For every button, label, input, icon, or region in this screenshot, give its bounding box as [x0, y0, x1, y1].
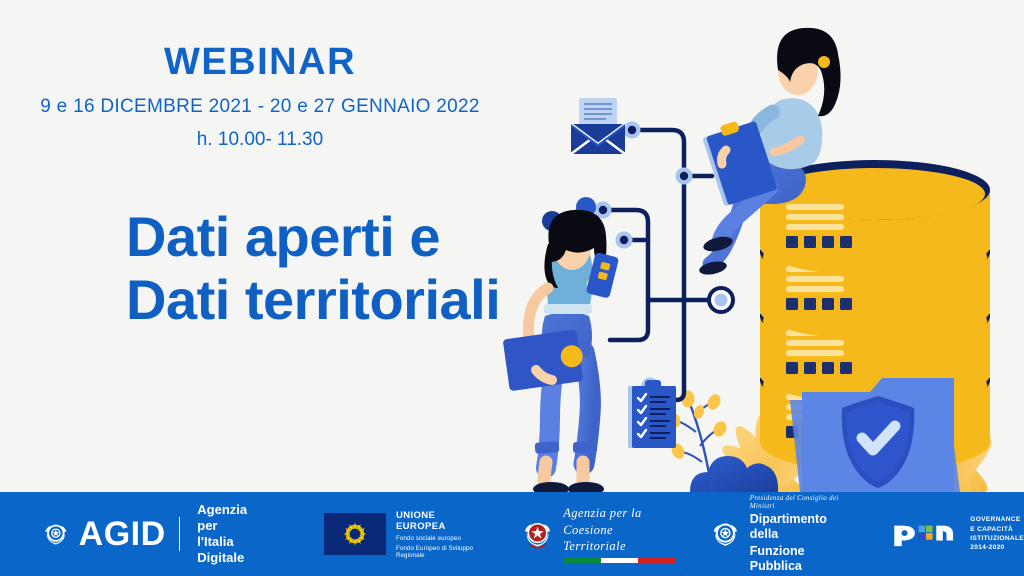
webinar-banner: WEBINAR 9 e 16 DICEMBRE 2021 - 20 e 27 G… [0, 0, 1024, 576]
pon-wordmark-icon [890, 520, 962, 548]
checklist-clipboard-icon [628, 380, 676, 448]
eu-title: UNIONE EUROPEA [396, 510, 487, 532]
shield-check-icon [790, 378, 960, 496]
fp-line1: Dipartimento della [750, 512, 855, 542]
eu-flag-icon [324, 513, 386, 555]
logo-unione-europea: UNIONE EUROPEA Fondo sociale europeo Fon… [324, 492, 487, 576]
logo-agid: AGID Agenzia per l'Italia Digitale [42, 492, 268, 576]
coesione-line1: Agenzia per la [563, 505, 676, 522]
header-block: WEBINAR 9 e 16 DICEMBRE 2021 - 20 e 27 G… [0, 42, 520, 151]
eu-text-block: UNIONE EUROPEA Fondo sociale europeo Fon… [396, 510, 487, 559]
envelope-icon [571, 98, 625, 154]
pon-line4: 2014-2020 [970, 543, 1024, 552]
pon-line3: ISTITUZIONALE [970, 534, 1024, 543]
agid-subtitle-line1: Agenzia per [197, 502, 268, 535]
pon-text-block: GOVERNANCE E CAPACITÀ ISTITUZIONALE 2014… [970, 515, 1024, 552]
eu-line2: Fondo Europeo di Sviluppo Regionale [396, 545, 487, 559]
coesione-text-block: Agenzia per la Coesione Territoriale [563, 505, 676, 564]
page-title: Dati aperti e Dati territoriali [126, 206, 546, 331]
page-title-line2: Dati territoriali [126, 269, 546, 332]
pon-line2: E CAPACITÀ [970, 525, 1024, 534]
eu-line1: Fondo sociale europeo [396, 535, 487, 542]
agid-subtitle: Agenzia per l'Italia Digitale [197, 502, 268, 567]
emblem-repubblica-coesione-icon [521, 517, 554, 551]
network-lines [604, 130, 718, 400]
fp-line2: Funzione Pubblica [750, 544, 855, 574]
page-title-line1: Dati aperti e [126, 206, 546, 269]
webinar-dates: 9 e 16 DICEMBRE 2021 - 20 e 27 GENNAIO 2… [0, 96, 520, 118]
agid-subtitle-line2: l'Italia Digitale [197, 534, 268, 567]
logo-agenzia-coesione: Agenzia per la Coesione Territoriale [521, 492, 676, 576]
footer-logo-bar: AGID Agenzia per l'Italia Digitale [0, 492, 1024, 576]
fp-pretitle: Presidenza del Consiglio dei Ministri [750, 494, 855, 510]
fp-text-block: Presidenza del Consiglio dei Ministri Di… [750, 494, 855, 574]
webinar-label: WEBINAR [0, 42, 520, 84]
emblem-repubblica-fp-icon [710, 517, 741, 551]
italian-flag-bar-icon [563, 558, 675, 563]
webinar-hours: h. 10.00- 11.30 [0, 129, 520, 151]
agid-divider [179, 517, 181, 551]
pon-line1: GOVERNANCE [970, 515, 1024, 524]
logo-pon: GOVERNANCE E CAPACITÀ ISTITUZIONALE 2014… [890, 492, 1024, 576]
logo-funzione-pubblica: Presidenza del Consiglio dei Ministri Di… [710, 492, 854, 576]
emblem-repubblica-icon [42, 517, 70, 551]
coesione-line2: Coesione Territoriale [563, 522, 676, 556]
agid-wordmark: AGID [79, 517, 166, 551]
